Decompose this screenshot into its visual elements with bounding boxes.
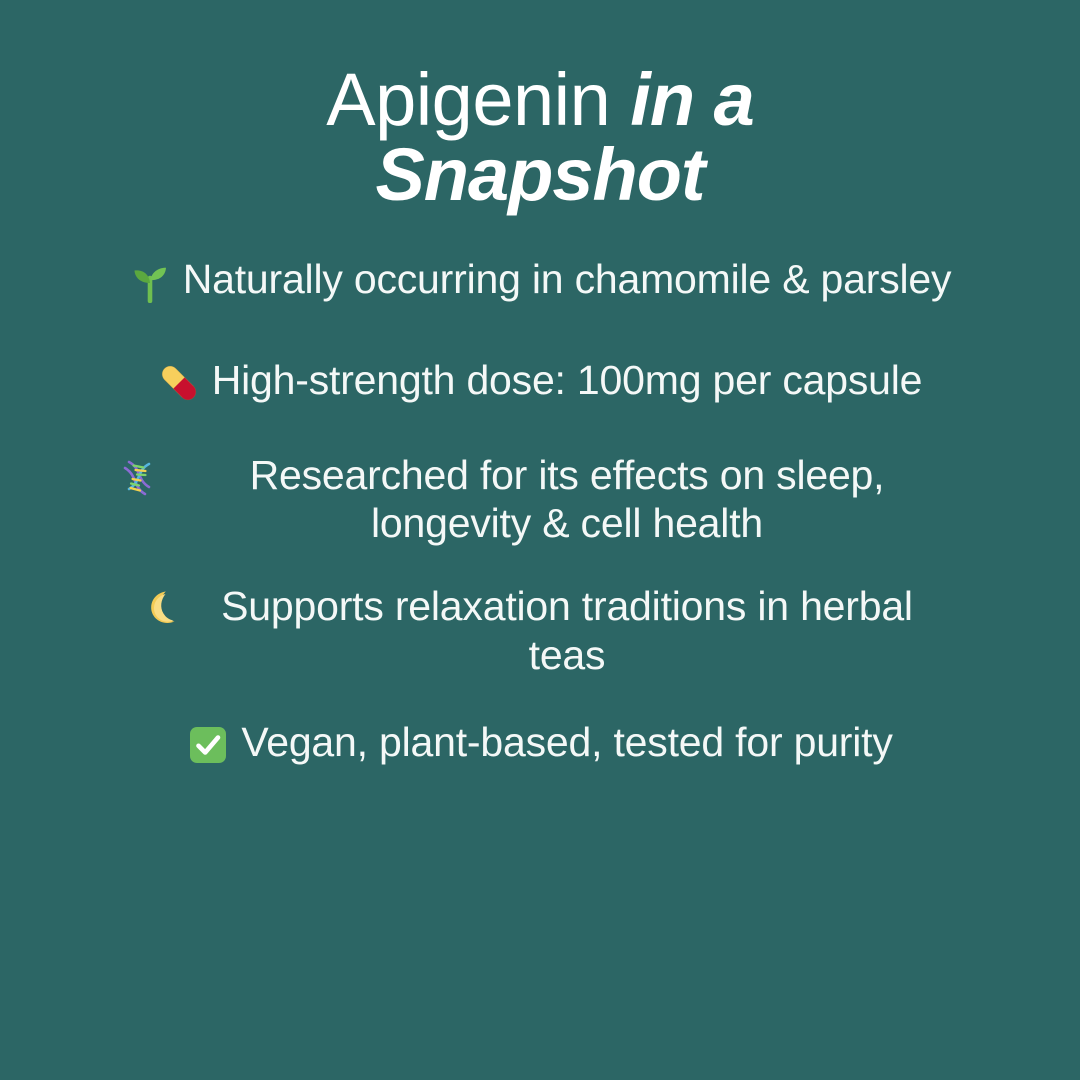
list-item: Researched for its effects on sleep, lon… <box>60 451 1020 549</box>
page-title-word-apigenin: Apigenin <box>326 58 630 141</box>
highlights-list: Naturally occurring in chamomile & parsl… <box>40 255 1040 766</box>
list-item: Naturally occurring in chamomile & parsl… <box>60 255 1020 304</box>
seedling-icon <box>129 261 171 303</box>
product-highlights-poster: Apigenin in a Snapshot Naturally occurri… <box>0 0 1080 1080</box>
list-item: Vegan, plant-based, tested for purity <box>60 718 1020 767</box>
page-title-line-1: Apigenin in a <box>0 62 1080 137</box>
list-item-label: High-strength dose: 100mg per capsule <box>212 356 923 405</box>
page-title: Apigenin in a Snapshot <box>0 62 1080 213</box>
list-item-label: Researched for its effects on sleep, lon… <box>172 451 962 549</box>
list-item-label: Naturally occurring in chamomile & parsl… <box>183 255 952 304</box>
list-item-label: Supports relaxation traditions in herbal… <box>197 582 937 680</box>
check-mark-button-icon <box>187 724 229 766</box>
crescent-moon-icon <box>143 588 185 630</box>
page-title-emphasis-snapshot: Snapshot <box>0 137 1080 212</box>
list-item-label: Vegan, plant-based, tested for purity <box>241 718 892 767</box>
page-title-emphasis-in-a: in a <box>630 58 753 141</box>
list-item: High-strength dose: 100mg per capsule <box>60 356 1020 405</box>
list-item: Supports relaxation traditions in herbal… <box>60 582 1020 680</box>
dna-icon <box>118 457 160 499</box>
pill-icon <box>158 362 200 404</box>
